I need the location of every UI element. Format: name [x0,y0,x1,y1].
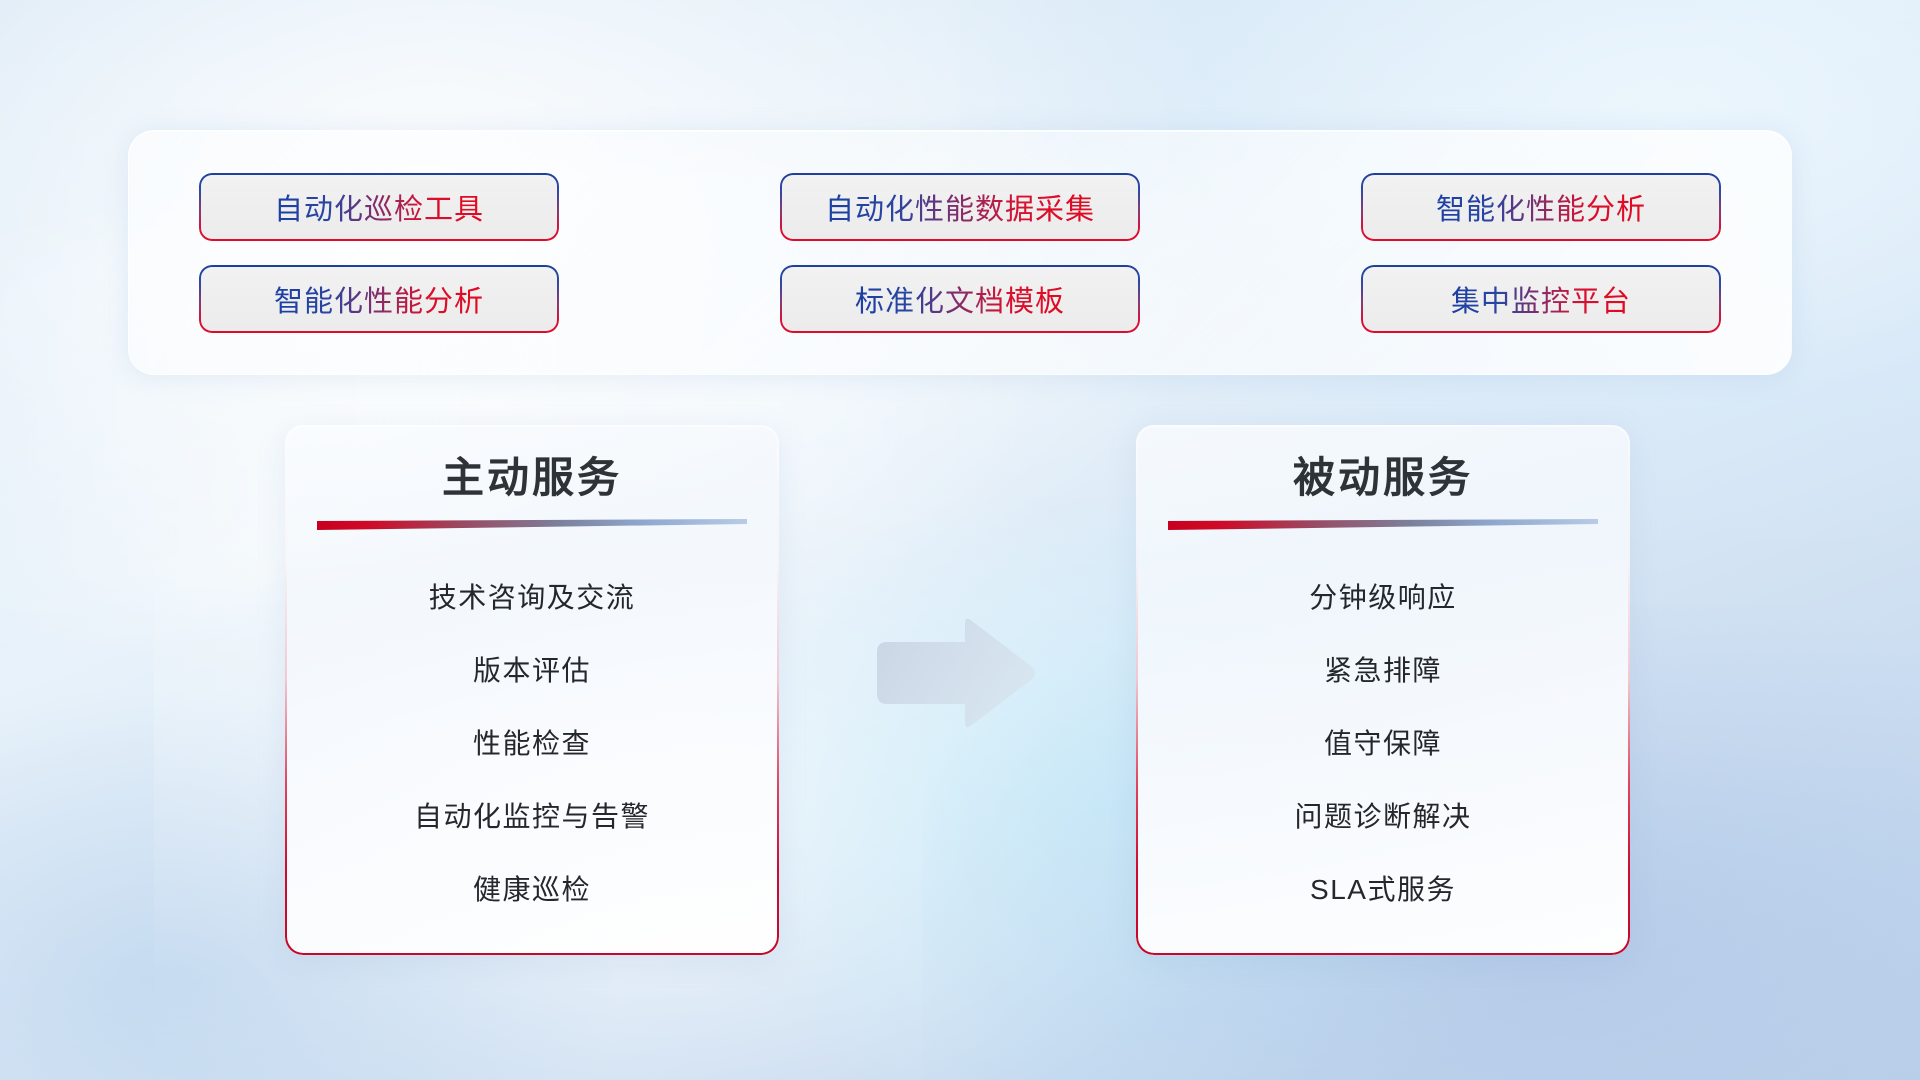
card-list-item: 分钟级响应 [1309,561,1457,634]
capability-panel: 自动化巡检工具 自动化性能数据采集 智能化性能分析 智能化性能分析 标准化文档模… [128,130,1792,375]
card-list-item: 紧急排障 [1324,634,1442,707]
arrow-right-icon [869,614,1039,732]
capability-pill-label: 标准化文档模板 [855,278,1065,320]
capability-pill-label: 智能化性能分析 [1436,186,1646,228]
card-list-item: 技术咨询及交流 [429,561,636,634]
card-list-item: 值守保障 [1324,707,1442,780]
divider-taper-icon [317,517,747,533]
service-card-active: 主动服务 [285,425,779,955]
capability-row-1: 自动化巡检工具 自动化性能数据采集 智能化性能分析 [199,173,1721,241]
arrow-right-shape [869,614,1039,732]
capability-row-2: 智能化性能分析 标准化文档模板 集中监控平台 [199,265,1721,333]
card-title-divider [317,517,747,533]
card-list-item: 自动化监控与告警 [414,780,650,853]
capability-pill-standard-doc-template[interactable]: 标准化文档模板 [780,265,1140,333]
card-list-item: 问题诊断解决 [1294,780,1471,853]
card-title-divider [1168,517,1598,533]
divider-taper-icon [1168,517,1598,533]
capability-pill-label: 自动化性能数据采集 [825,186,1095,228]
slide-canvas: 自动化巡检工具 自动化性能数据采集 智能化性能分析 智能化性能分析 标准化文档模… [0,0,1920,1080]
capability-pill-auto-inspection-tool[interactable]: 自动化巡检工具 [199,173,559,241]
capability-pill-intelligent-perf-analysis-top[interactable]: 智能化性能分析 [1361,173,1721,241]
capability-pill-auto-perf-data-collection[interactable]: 自动化性能数据采集 [780,173,1140,241]
card-list-item: 性能检查 [473,707,591,780]
service-card-passive: 被动服务 [1136,425,1630,955]
card-title: 被动服务 [1293,453,1473,503]
card-title: 主动服务 [442,453,622,503]
card-list-item: 版本评估 [473,634,591,707]
card-item-list: 技术咨询及交流 版本评估 性能检查 自动化监控与告警 健康巡检 [285,555,779,955]
capability-pill-central-monitoring-platform[interactable]: 集中监控平台 [1361,265,1721,333]
capability-pill-intelligent-perf-analysis[interactable]: 智能化性能分析 [199,265,559,333]
capability-pill-label: 集中监控平台 [1451,278,1631,320]
capability-pill-label: 智能化性能分析 [274,278,484,320]
card-list-item: SLA式服务 [1310,853,1456,926]
card-item-list: 分钟级响应 紧急排障 值守保障 问题诊断解决 SLA式服务 [1136,555,1630,955]
card-list-item: 健康巡检 [473,853,591,926]
capability-pill-label: 自动化巡检工具 [274,186,484,228]
